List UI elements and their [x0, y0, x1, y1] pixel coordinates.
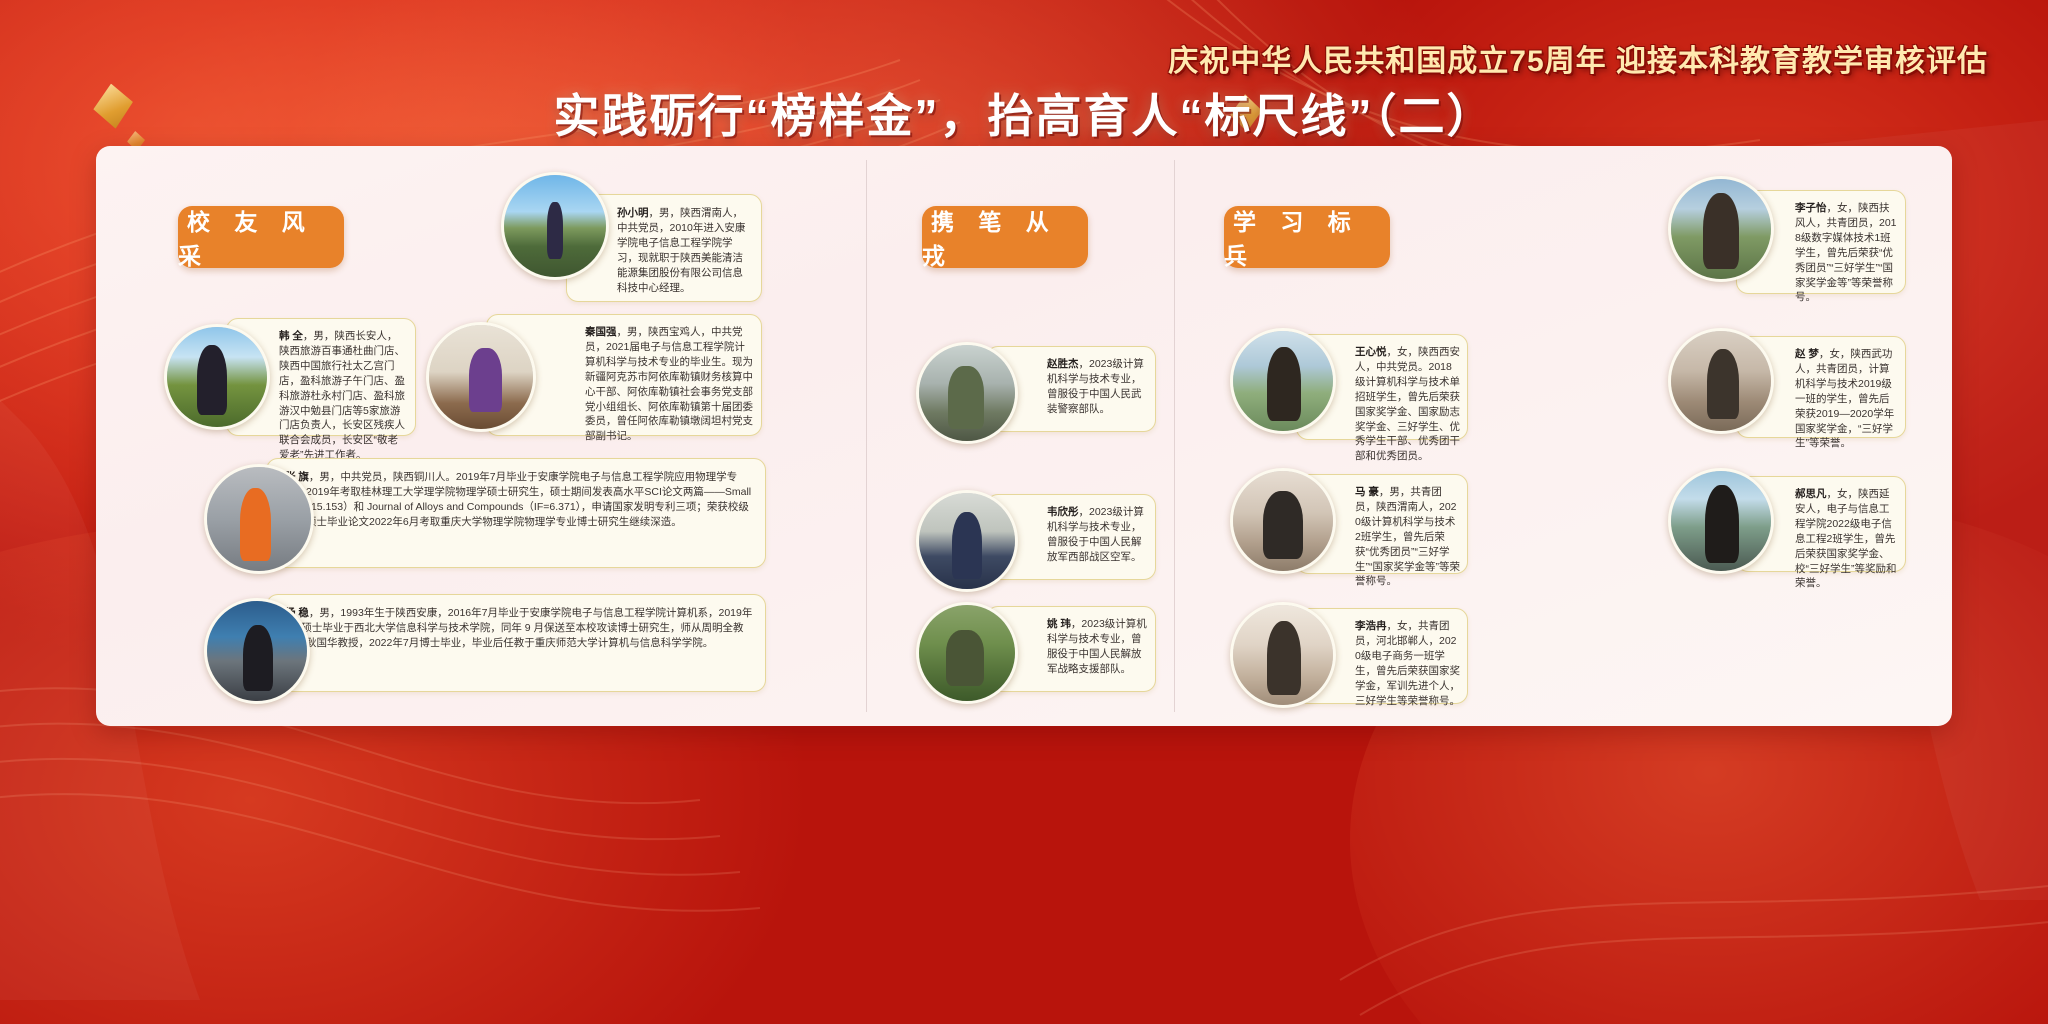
person-photo[interactable] — [916, 602, 1018, 704]
bio-text: 杨 稳，男，1993年生于陕西安康，2016年7月毕业于安康学院电子与信息工程学… — [285, 606, 753, 651]
event-subtitle: 庆祝中华人民共和国成立75周年 迎接本科教育教学审核评估 — [688, 40, 1988, 84]
photo-image — [1671, 331, 1771, 431]
bio-text: 孙小明，男，陕西渭南人，中共党员，2010年进入安康学院电子信息工程学院学习，现… — [617, 206, 753, 295]
bio-text: 马 豪，男，共青团员，陕西渭南人，2020级计算机科学与技术2班学生，曾先后荣获… — [1355, 485, 1461, 589]
content-board: 校 友 风 采 孙小明，男，陕西渭南人，中共党员，2010年进入安康学院电子信息… — [96, 146, 1952, 726]
bio-bubble: 杨 稳，男，1993年生于陕西安康，2016年7月毕业于安康学院电子与信息工程学… — [266, 594, 766, 692]
bio-text: 李子怡，女，陕西扶风人，共青团员，2018级数字媒体技术1班学生，曾先后荣获“优… — [1795, 201, 1899, 305]
section-chip-study-label: 学 习 标 兵 — [1224, 203, 1390, 271]
photo-image — [1233, 605, 1333, 705]
person-photo[interactable] — [501, 172, 609, 280]
photo-image — [207, 601, 307, 701]
person-photo[interactable] — [1668, 328, 1774, 434]
section-chip-military-label: 携 笔 从 戎 — [922, 203, 1088, 271]
person-photo[interactable] — [426, 322, 536, 432]
bio-text: 姚 玮，2023级计算机科学与技术专业，曾服役于中国人民解放军战略支援部队。 — [1047, 617, 1147, 677]
bio-text: 赵 梦，女，陕西武功人，共青团员，计算机科学与技术2019级一班的学生，曾先后荣… — [1795, 347, 1899, 451]
person-photo[interactable] — [204, 464, 314, 574]
person-photo[interactable] — [916, 342, 1018, 444]
photo-image — [167, 327, 267, 427]
person-photo[interactable] — [1230, 602, 1336, 708]
section-chip-study[interactable]: 学 习 标 兵 — [1224, 206, 1390, 268]
person-photo[interactable] — [1230, 328, 1336, 434]
bio-text: 韦欣彤，2023级计算机科学与技术专业，曾服役于中国人民解放军西部战区空军。 — [1047, 505, 1147, 565]
bio-text: 秦国强，男，陕西宝鸡人，中共党员，2021届电子与信息工程学院计算机科学与技术专… — [585, 325, 753, 444]
photo-image — [1671, 471, 1771, 571]
photo-image — [919, 605, 1015, 701]
person-photo[interactable] — [916, 490, 1018, 592]
person-photo[interactable] — [1230, 468, 1336, 574]
section-chip-military[interactable]: 携 笔 从 戎 — [922, 206, 1088, 268]
bio-text: 李浩冉，女，共青团员，河北邯郸人，2020级电子商务一班学生，曾先后荣获国家奖学… — [1355, 619, 1461, 708]
bio-text: 韩 全，男，陕西长安人，陕西旅游百事通杜曲门店、陕西中国旅行社太乙宫门店，盈科旅… — [279, 329, 407, 463]
section-chip-alumni-label: 校 友 风 采 — [178, 203, 344, 271]
bio-text: 王心悦，女，陕西西安人，中共党员。2018级计算机科学与技术单招班学生，曾先后荣… — [1355, 345, 1461, 464]
photo-image — [207, 467, 311, 571]
person-photo[interactable] — [164, 324, 270, 430]
person-photo[interactable] — [1668, 468, 1774, 574]
person-photo[interactable] — [1668, 176, 1774, 282]
page-title: 实践砺行“榜样金”，抬高育人“标尺线”（二） — [0, 88, 2048, 144]
photo-image — [1233, 331, 1333, 431]
photo-image — [504, 175, 606, 277]
board-inner: 校 友 风 采 孙小明，男，陕西渭南人，中共党员，2010年进入安康学院电子信息… — [96, 146, 1952, 726]
person-photo[interactable] — [204, 598, 310, 704]
bio-text: 郝思凡，女，陕西延安人，电子与信息工程学院2022级电子信息工程2班学生，曾先后… — [1795, 487, 1899, 591]
bio-text: 张 旗，男，中共党员，陕西铜川人。2019年7月毕业于安康学院电子与信息工程学院… — [285, 470, 753, 530]
photo-image — [1233, 471, 1333, 571]
photo-image — [919, 493, 1015, 589]
column-divider-1 — [866, 160, 867, 712]
bio-text: 赵胜杰，2023级计算机科学与技术专业，曾服役于中国人民武装警察部队。 — [1047, 357, 1147, 417]
poster-canvas: 庆祝中华人民共和国成立75周年 迎接本科教育教学审核评估 实践砺行“榜样金”，抬… — [0, 0, 2048, 1024]
photo-image — [1671, 179, 1771, 279]
photo-image — [429, 325, 533, 429]
photo-image — [919, 345, 1015, 441]
bio-bubble: 张 旗，男，中共党员，陕西铜川人。2019年7月毕业于安康学院电子与信息工程学院… — [266, 458, 766, 568]
section-chip-alumni[interactable]: 校 友 风 采 — [178, 206, 344, 268]
column-divider-2 — [1174, 160, 1175, 712]
